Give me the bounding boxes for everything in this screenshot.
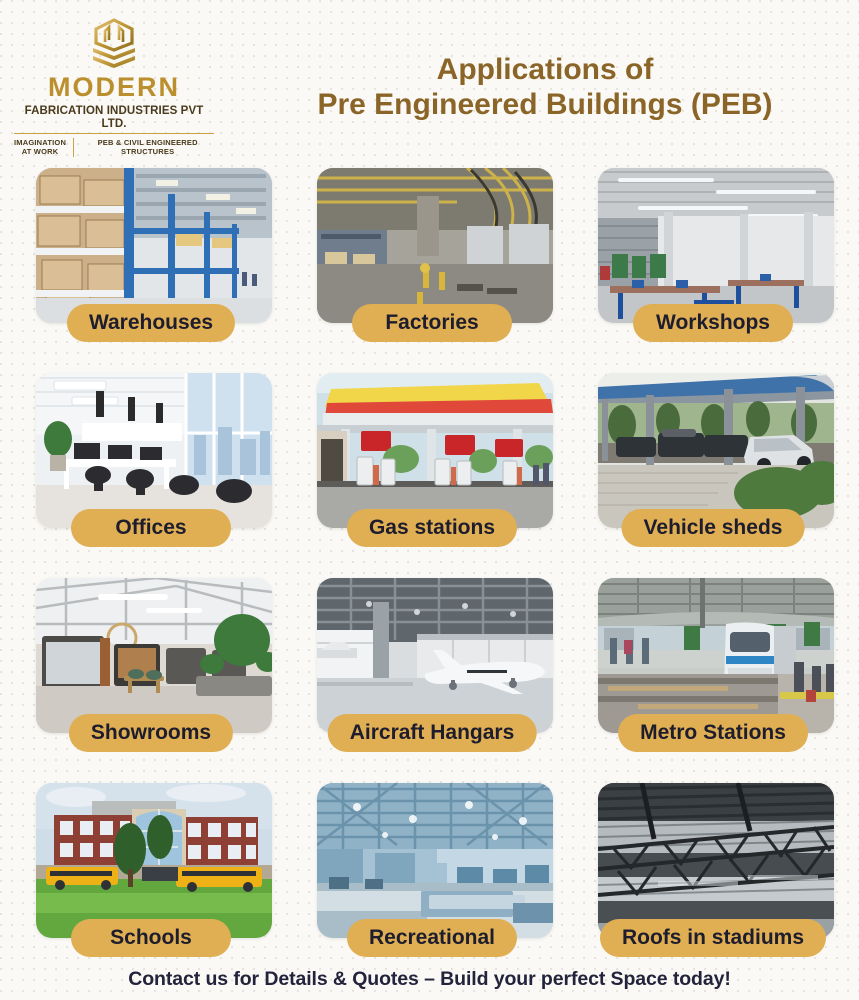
brand-name: MODERN [14,74,214,101]
brand-tagline-left: IMAGINATION AT WORK [14,139,66,156]
application-card-label: Offices [71,509,231,547]
application-card[interactable]: Vehicle sheds [584,373,842,558]
page-title-line-1: Applications of [235,52,855,87]
application-card[interactable]: Factories [303,168,561,353]
stadium-roof-trusses-photo [598,783,834,938]
school-building-buses-photo [36,783,272,938]
application-card[interactable]: Workshops [584,168,842,353]
application-card-label: Gas stations [347,509,517,547]
footer-cta-text: Contact us for Details & Quotes – Build … [128,968,730,991]
application-card[interactable]: Offices [22,373,280,558]
carport-vehicle-shed-photo [598,373,834,528]
header: MODERN FABRICATION INDUSTRIES PVT LTD. I… [0,0,859,162]
application-card-label: Vehicle sheds [622,509,805,547]
brand-tagline-right: PEB & CIVIL ENGINEERED STRUCTURES [81,139,214,156]
brand-tagline-divider [73,138,74,157]
brand-subtitle: FABRICATION INDUSTRIES PVT LTD. [14,105,214,134]
applications-grid: Warehouses [22,168,842,987]
gas-station-canopy-photo [317,373,553,528]
footer: Contact us for Details & Quotes – Build … [0,958,859,1000]
application-card-label: Warehouses [67,304,235,342]
aircraft-hangar-photo [317,578,553,733]
application-card-label: Aircraft Hangars [328,714,537,752]
factory-floor-photo [317,168,553,323]
workshop-interior-photo [598,168,834,323]
application-card-label: Metro Stations [618,714,808,752]
warehouse-racking-photo [36,168,272,323]
page-title-line-2: Pre Engineered Buildings (PEB) [235,87,855,122]
application-card-label: Factories [352,304,512,342]
metro-station-platform-photo [598,578,834,733]
showroom-interior-photo [36,578,272,733]
application-card[interactable]: Warehouses [22,168,280,353]
industrial-hall-photo [317,783,553,938]
application-card[interactable]: Metro Stations [584,578,842,763]
brand-tagline-left-line2: AT WORK [14,148,66,157]
application-card-label: Roofs in stadiums [600,919,826,957]
application-card-label: Showrooms [69,714,233,752]
application-card[interactable]: Roofs in stadiums [584,783,842,968]
application-card-label: Workshops [633,304,793,342]
application-card[interactable]: Aircraft Hangars [303,578,561,763]
application-card[interactable]: Schools [22,783,280,968]
open-plan-office-photo [36,373,272,528]
application-card-label: Schools [71,919,231,957]
page-title: Applications of Pre Engineered Buildings… [235,52,855,123]
building-emblem-icon [85,18,143,70]
application-card[interactable]: Recreational [303,783,561,968]
poster-canvas: MODERN FABRICATION INDUSTRIES PVT LTD. I… [0,0,859,1000]
application-card[interactable]: Showrooms [22,578,280,763]
application-card-label: Recreational [347,919,517,957]
brand-tagline: IMAGINATION AT WORK PEB & CIVIL ENGINEER… [14,138,214,157]
application-card[interactable]: Gas stations [303,373,561,558]
brand-logo: MODERN FABRICATION INDUSTRIES PVT LTD. I… [14,18,214,157]
